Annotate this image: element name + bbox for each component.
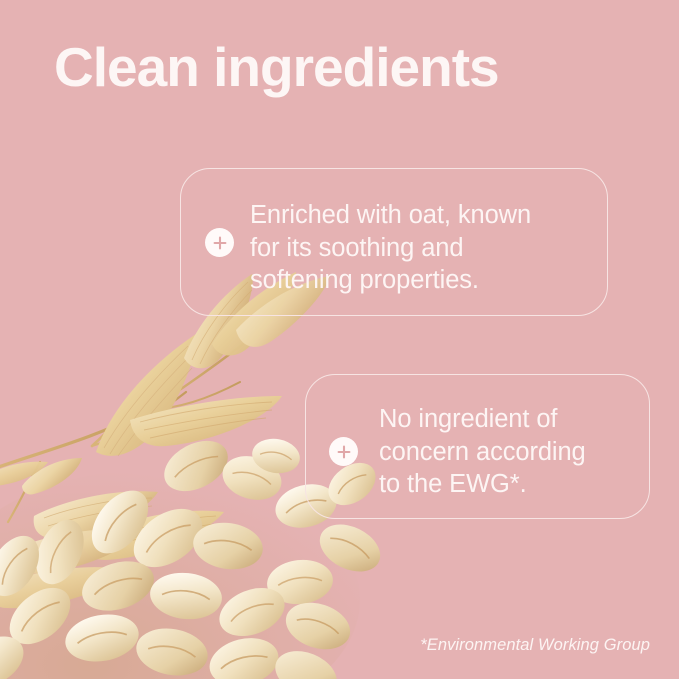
page-title: Clean ingredients [54,36,499,98]
benefit-card-oat: Enriched with oat, known for its soothin… [180,168,608,316]
plus-icon [205,228,234,257]
benefit-card-oat-text: Enriched with oat, known for its soothin… [250,199,600,297]
plus-icon [329,437,358,466]
clean-ingredients-banner: Clean ingredients Enriched with oat, kno… [0,0,679,679]
footnote: *Environmental Working Group [420,635,650,655]
benefit-card-ewg-text: No ingredient of concern according to th… [379,403,647,501]
